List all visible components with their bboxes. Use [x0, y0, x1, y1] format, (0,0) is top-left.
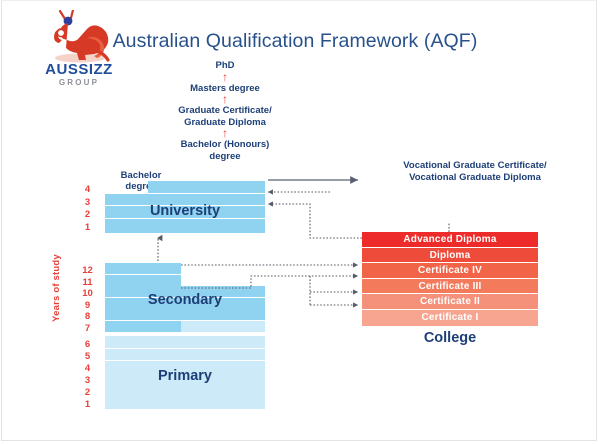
college-row-advanced-diploma[interactable]: Advanced Diploma	[362, 232, 538, 248]
primary-row-6	[105, 336, 265, 348]
college-block[interactable]: Advanced Diploma Diploma Certificate IV …	[362, 232, 538, 326]
primary-row-2	[105, 385, 265, 397]
college-caption: College	[362, 330, 538, 346]
vocational-graduate-label: Vocational Graduate Certificate/ Vocatio…	[360, 160, 590, 183]
college-row-certificate-iii[interactable]: Certificate III	[362, 279, 538, 295]
primary-block[interactable]: Primary	[0, 0, 600, 444]
college-row-diploma[interactable]: Diploma	[362, 248, 538, 264]
college-row-certificate-ii[interactable]: Certificate II	[362, 294, 538, 310]
primary-row-1	[105, 397, 265, 409]
primary-row-5	[105, 349, 265, 361]
primary-block-label: Primary	[105, 368, 265, 384]
aqf-diagram-canvas: AUSSIZZ GROUP Australian Qualification F…	[0, 0, 600, 444]
college-row-certificate-iv[interactable]: Certificate IV	[362, 263, 538, 279]
college-row-certificate-i[interactable]: Certificate I	[362, 310, 538, 326]
